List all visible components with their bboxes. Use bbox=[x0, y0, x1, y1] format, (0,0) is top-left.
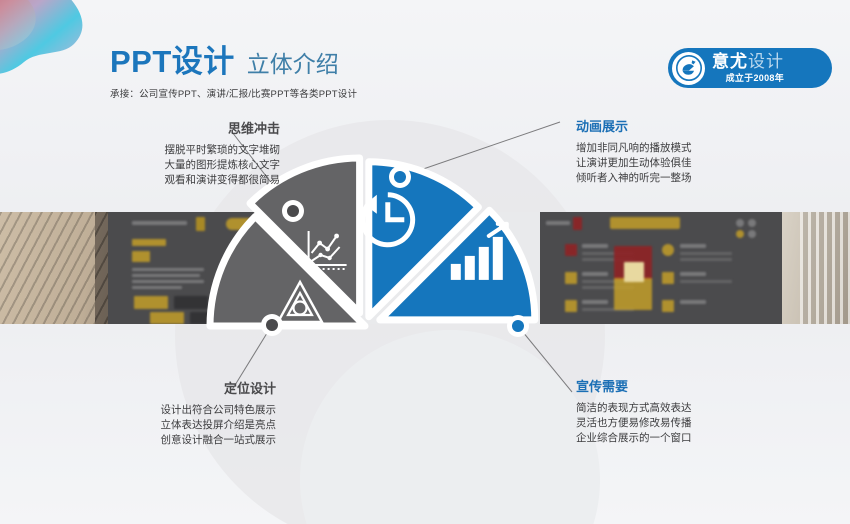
callout-line: 设计出符合公司特色展示 bbox=[76, 403, 276, 418]
callout-line: 让演讲更加生动体验俱佳 bbox=[576, 156, 786, 171]
slide-canvas: PPT设计 立体介绍 承接：公司宣传PPT、演讲/汇报/比赛PPT等各类PPT设… bbox=[0, 0, 850, 524]
callout-line: 大量的图形提炼核心文字 bbox=[80, 158, 280, 173]
callout-line: 摆脱平时繁琐的文字堆砌 bbox=[80, 143, 280, 158]
callout-line: 立体表达投屏介绍是亮点 bbox=[76, 418, 276, 433]
callout-line: 观看和演讲变得都很简易 bbox=[80, 173, 280, 188]
node-promotion-need[interactable] bbox=[507, 315, 529, 337]
callout-title: 思维冲击 bbox=[80, 122, 280, 135]
callout-title: 定位设计 bbox=[76, 382, 276, 395]
callout-positioning-design: 定位设计 设计出符合公司特色展示 立体表达投屏介绍是亮点 创意设计融合一站式展示 bbox=[76, 382, 276, 448]
connector-promotion-need bbox=[518, 326, 572, 392]
callout-animation-display: 动画展示 增加非同凡响的播放模式 让演讲更加生动体验俱佳 倾听者入神的听完一整场 bbox=[576, 120, 786, 186]
callout-line: 倾听者入神的听完一整场 bbox=[576, 171, 786, 186]
callout-line: 简洁的表现方式高效表达 bbox=[576, 401, 791, 416]
node-positioning-design[interactable] bbox=[261, 314, 283, 336]
callout-line: 企业综合展示的一个窗口 bbox=[576, 431, 791, 446]
node-animation-display[interactable] bbox=[389, 166, 411, 188]
callout-line: 增加非同凡响的播放模式 bbox=[576, 141, 786, 156]
callout-thinking-impact: 思维冲击 摆脱平时繁琐的文字堆砌 大量的图形提炼核心文字 观看和演讲变得都很简易 bbox=[80, 122, 280, 188]
callout-line: 灵活也方便易修改易传播 bbox=[576, 416, 791, 431]
callout-promotion-need: 宣传需要 简洁的表现方式高效表达 灵活也方便易修改易传播 企业综合展示的一个窗口 bbox=[576, 380, 791, 446]
callout-line: 创意设计融合一站式展示 bbox=[76, 433, 276, 448]
node-thinking-impact[interactable] bbox=[282, 200, 304, 222]
callout-title: 宣传需要 bbox=[576, 380, 791, 393]
callout-title: 动画展示 bbox=[576, 120, 786, 133]
